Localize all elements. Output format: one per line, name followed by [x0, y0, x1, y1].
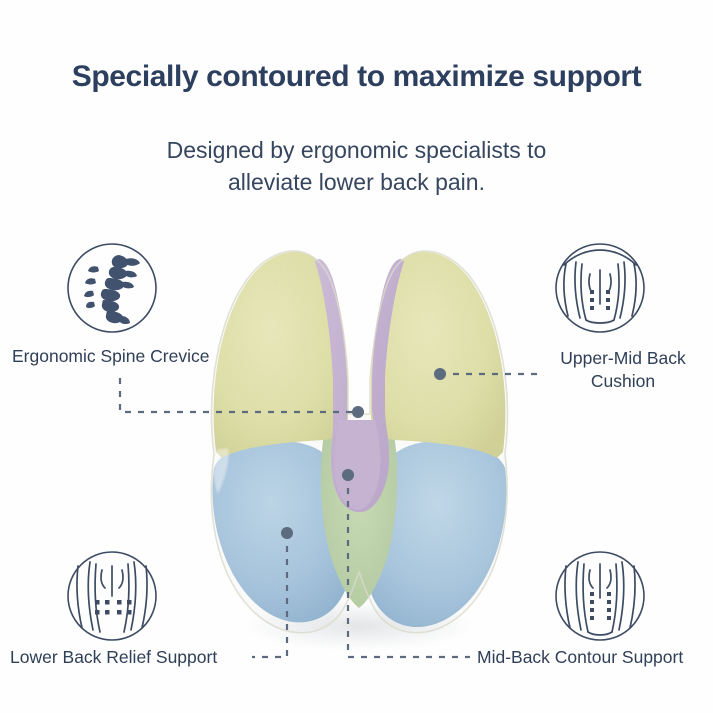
- page-title: Specially contoured to maximize support: [0, 60, 713, 94]
- mid-back-dots-icon: [552, 548, 648, 644]
- infographic-canvas: Specially contoured to maximize support …: [0, 0, 713, 713]
- label-upper-mid-back-cushion: Upper-Mid Back Cushion: [540, 347, 706, 393]
- label-lower-back-relief-support: Lower Back Relief Support: [10, 646, 217, 669]
- upper-back-dots-icon: [552, 240, 648, 336]
- lower-back-dots-icon: [64, 548, 160, 644]
- label-mid-back-contour-support: Mid-Back Contour Support: [477, 646, 683, 669]
- product-image-back-support-pillow: [196, 222, 522, 652]
- label-upper-mid-back-line-2: Cushion: [591, 371, 655, 391]
- page-subtitle: Designed by ergonomic specialists to all…: [0, 134, 713, 198]
- subtitle-line-1: Designed by ergonomic specialists to: [167, 137, 547, 163]
- spine-vertebrae-icon: [64, 240, 160, 336]
- label-ergonomic-spine-crevice: Ergonomic Spine Crevice: [12, 345, 209, 368]
- label-upper-mid-back-line-1: Upper-Mid Back: [560, 348, 685, 368]
- subtitle-line-2: alleviate lower back pain.: [0, 166, 713, 198]
- lower-back-dot-markers: [95, 600, 132, 615]
